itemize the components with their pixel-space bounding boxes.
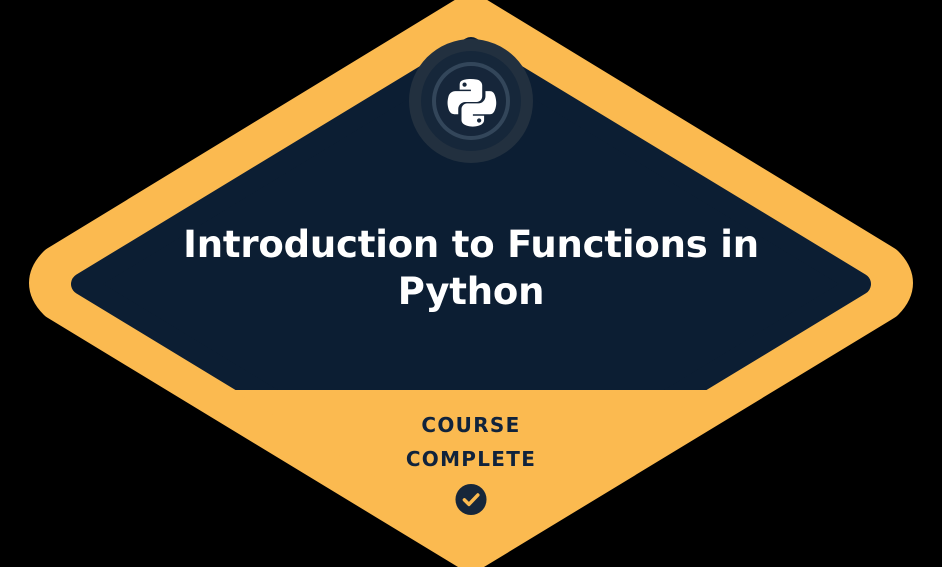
python-logo-icon xyxy=(445,75,497,127)
python-emblem xyxy=(409,39,533,163)
course-title: Introduction to Functions in Python xyxy=(171,221,771,315)
check-circle-icon xyxy=(455,483,488,516)
completion-label-line-2: COMPLETE xyxy=(241,442,701,476)
course-completion-badge: Introduction to Functions in Python COUR… xyxy=(0,0,942,567)
course-title-line-1: Introduction to Functions in xyxy=(171,221,771,268)
completion-label: COURSE COMPLETE xyxy=(241,408,701,476)
course-title-line-2: Python xyxy=(171,268,771,315)
check-circle-background xyxy=(455,484,486,515)
completion-label-line-1: COURSE xyxy=(241,408,701,442)
